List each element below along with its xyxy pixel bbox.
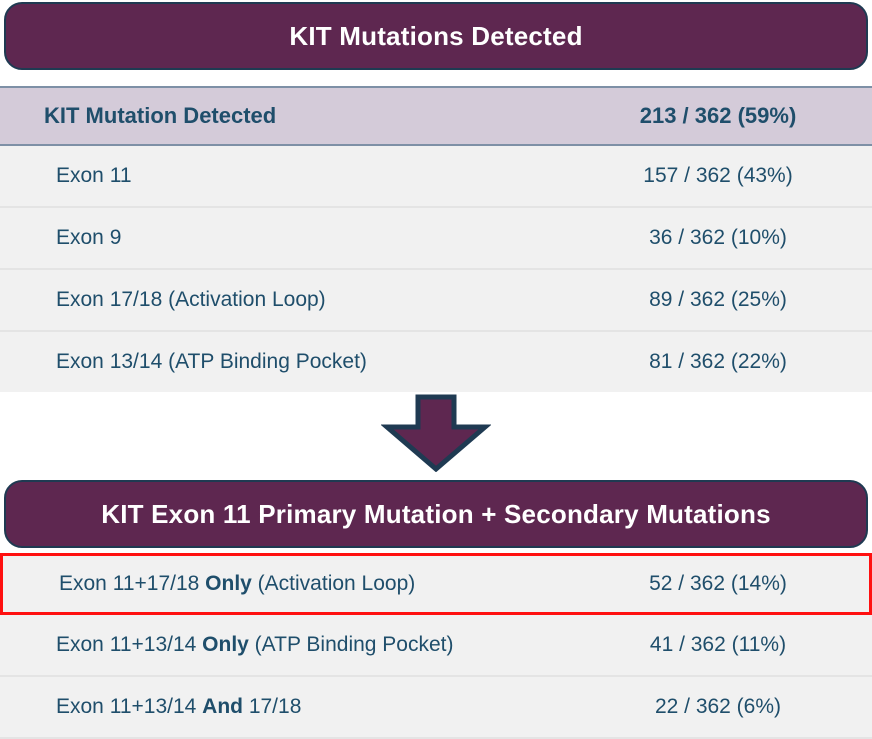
table-row: Exon 13/14 (ATP Binding Pocket) 81 / 362… [0, 332, 872, 394]
table-row: Exon 11+13/14 And 17/18 22 / 362 (6%) [0, 677, 872, 739]
table-row: Exon 11+13/14 Only (ATP Binding Pocket) … [0, 615, 872, 677]
table-row: Exon 9 36 / 362 (10%) [0, 208, 872, 270]
row-value: 41 / 362 (11%) [590, 633, 872, 657]
row-label-post: 17/18 [243, 695, 301, 718]
banner-exon11-primary-secondary: KIT Exon 11 Primary Mutation + Secondary… [4, 480, 868, 548]
row-label: Exon 11+17/18 Only (Activation Loop) [3, 572, 593, 596]
row-label: Exon 11 [0, 164, 590, 188]
row-label-post: (Activation Loop) [252, 572, 415, 595]
table-kit-mutations: KIT Mutation Detected 213 / 362 (59%) Ex… [0, 86, 872, 394]
row-label: Exon 11+13/14 Only (ATP Binding Pocket) [0, 633, 590, 657]
row-value: 157 / 362 (43%) [590, 164, 872, 188]
banner-title-bottom: KIT Exon 11 Primary Mutation + Secondary… [87, 500, 785, 529]
table-row: Exon 17/18 (Activation Loop) 89 / 362 (2… [0, 270, 872, 332]
infographic-sheet: KIT Mutations Detected KIT Mutation Dete… [0, 0, 872, 737]
row-value: 81 / 362 (22%) [590, 350, 872, 374]
row-label-emphasis: Only [205, 572, 252, 595]
table-row-highlighted: Exon 11+17/18 Only (Activation Loop) 52 … [0, 553, 872, 615]
arrow-down-container [0, 392, 872, 474]
row-label-pre: Exon 11+13/14 [56, 695, 202, 718]
row-label-pre: Exon 11+13/14 [56, 633, 202, 656]
arrow-down-icon [381, 394, 491, 472]
header-label: KIT Mutation Detected [0, 103, 590, 129]
row-label: Exon 9 [0, 226, 590, 250]
row-label-post: (ATP Binding Pocket) [249, 633, 454, 656]
header-value: 213 / 362 (59%) [590, 103, 872, 129]
row-value: 36 / 362 (10%) [590, 226, 872, 250]
row-value: 22 / 362 (6%) [590, 695, 872, 719]
row-label-pre: Exon 11+17/18 [59, 572, 205, 595]
row-label: Exon 11+13/14 And 17/18 [0, 695, 590, 719]
row-value: 89 / 362 (25%) [590, 288, 872, 312]
row-value: 52 / 362 (14%) [593, 572, 869, 596]
row-label-emphasis: And [202, 695, 243, 718]
table-exon11-combinations: Exon 11+17/18 Only (Activation Loop) 52 … [0, 553, 872, 739]
table-row: Exon 11 157 / 362 (43%) [0, 146, 872, 208]
row-label: Exon 17/18 (Activation Loop) [0, 288, 590, 312]
row-label: Exon 13/14 (ATP Binding Pocket) [0, 350, 590, 374]
table-row-header: KIT Mutation Detected 213 / 362 (59%) [0, 86, 872, 146]
banner-kit-mutations-detected: KIT Mutations Detected [4, 2, 868, 70]
row-label-emphasis: Only [202, 633, 249, 656]
banner-title-top: KIT Mutations Detected [275, 22, 596, 51]
